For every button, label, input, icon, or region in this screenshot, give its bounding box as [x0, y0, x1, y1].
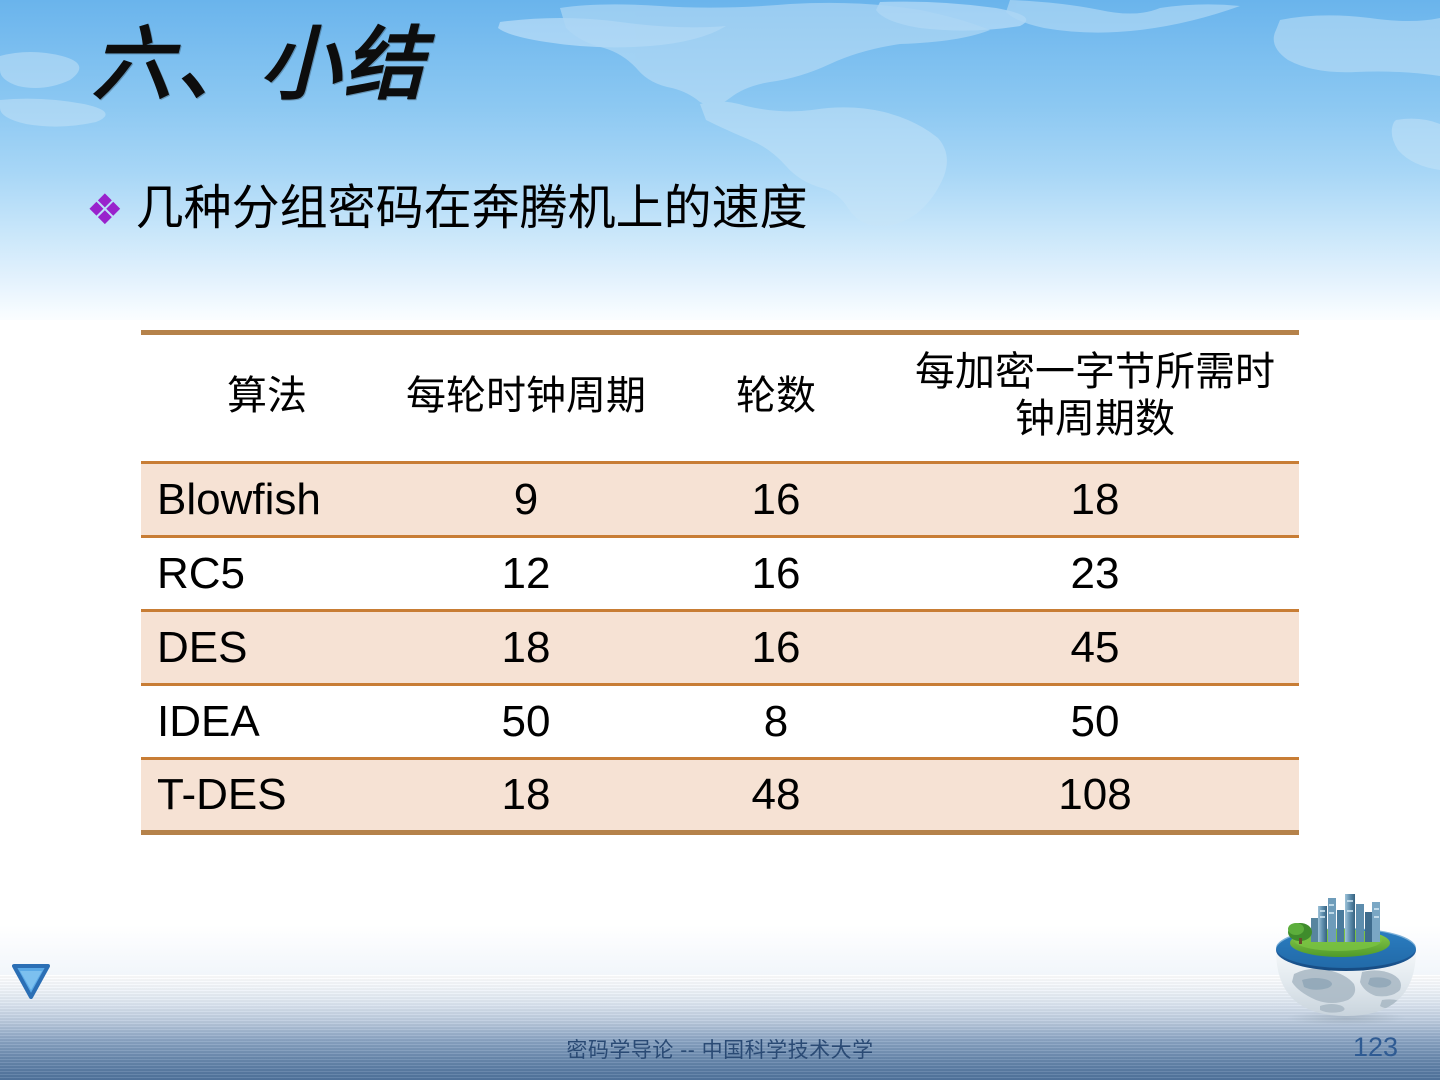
ocean-fade: [0, 925, 1440, 975]
cell-cycles-per-round: 50: [391, 685, 661, 759]
header-cycles-per-byte: 每加密一字节所需时钟周期数: [891, 333, 1299, 463]
bullet-label: 几种分组密码在奔腾机上的速度: [136, 183, 808, 236]
cell-cycles-per-byte: 108: [891, 759, 1299, 833]
table-row: T-DES 18 48 108: [141, 759, 1299, 833]
bullet-line: ❖ 几种分组密码在奔腾机上的速度: [86, 183, 808, 236]
cell-cycles-per-round: 12: [391, 537, 661, 611]
cell-cycles-per-round: 9: [391, 463, 661, 537]
table-body: Blowfish 9 16 18 RC5 12 16 23 DES 18 16 …: [141, 463, 1299, 833]
cell-algorithm: DES: [141, 611, 391, 685]
cell-cycles-per-round: 18: [391, 611, 661, 685]
footer-course-label: 密码学导论 -- 中国科学技术大学: [0, 1034, 1440, 1064]
header-cycles-per-round: 每轮时钟周期: [391, 333, 661, 463]
speed-comparison-table: 算法 每轮时钟周期 轮数 每加密一字节所需时钟周期数 Blowfish 9 16…: [141, 330, 1299, 835]
cell-rounds: 16: [661, 611, 891, 685]
cell-cycles-per-byte: 18: [891, 463, 1299, 537]
header-algorithm: 算法: [141, 333, 391, 463]
table-header: 算法 每轮时钟周期 轮数 每加密一字节所需时钟周期数: [141, 333, 1299, 463]
globe-city-icon: [1258, 888, 1434, 1028]
diamond-cluster-bullet-icon: ❖: [86, 189, 124, 231]
cell-rounds: 48: [661, 759, 891, 833]
header-rounds: 轮数: [661, 333, 891, 463]
cell-rounds: 16: [661, 537, 891, 611]
down-triangle-icon[interactable]: [12, 963, 50, 999]
table-row: RC5 12 16 23: [141, 537, 1299, 611]
cell-algorithm: RC5: [141, 537, 391, 611]
page-number: 123: [1353, 1032, 1398, 1063]
slide-canvas: 六、小结 ❖ 几种分组密码在奔腾机上的速度 算法 每轮时钟周期 轮数 每加密一字…: [0, 0, 1440, 1080]
cell-cycles-per-round: 18: [391, 759, 661, 833]
speed-comparison-table-wrapper: 算法 每轮时钟周期 轮数 每加密一字节所需时钟周期数 Blowfish 9 16…: [141, 330, 1299, 835]
ocean-footer-band: [0, 975, 1440, 1080]
table-header-row: 算法 每轮时钟周期 轮数 每加密一字节所需时钟周期数: [141, 333, 1299, 463]
cell-algorithm: IDEA: [141, 685, 391, 759]
cell-cycles-per-byte: 50: [891, 685, 1299, 759]
cell-cycles-per-byte: 23: [891, 537, 1299, 611]
table-row: DES 18 16 45: [141, 611, 1299, 685]
table-row: Blowfish 9 16 18: [141, 463, 1299, 537]
cell-algorithm: Blowfish: [141, 463, 391, 537]
slide-title: 六、小结: [92, 20, 428, 108]
cell-rounds: 16: [661, 463, 891, 537]
cell-rounds: 8: [661, 685, 891, 759]
table-row: IDEA 50 8 50: [141, 685, 1299, 759]
cell-cycles-per-byte: 45: [891, 611, 1299, 685]
cell-algorithm: T-DES: [141, 759, 391, 833]
